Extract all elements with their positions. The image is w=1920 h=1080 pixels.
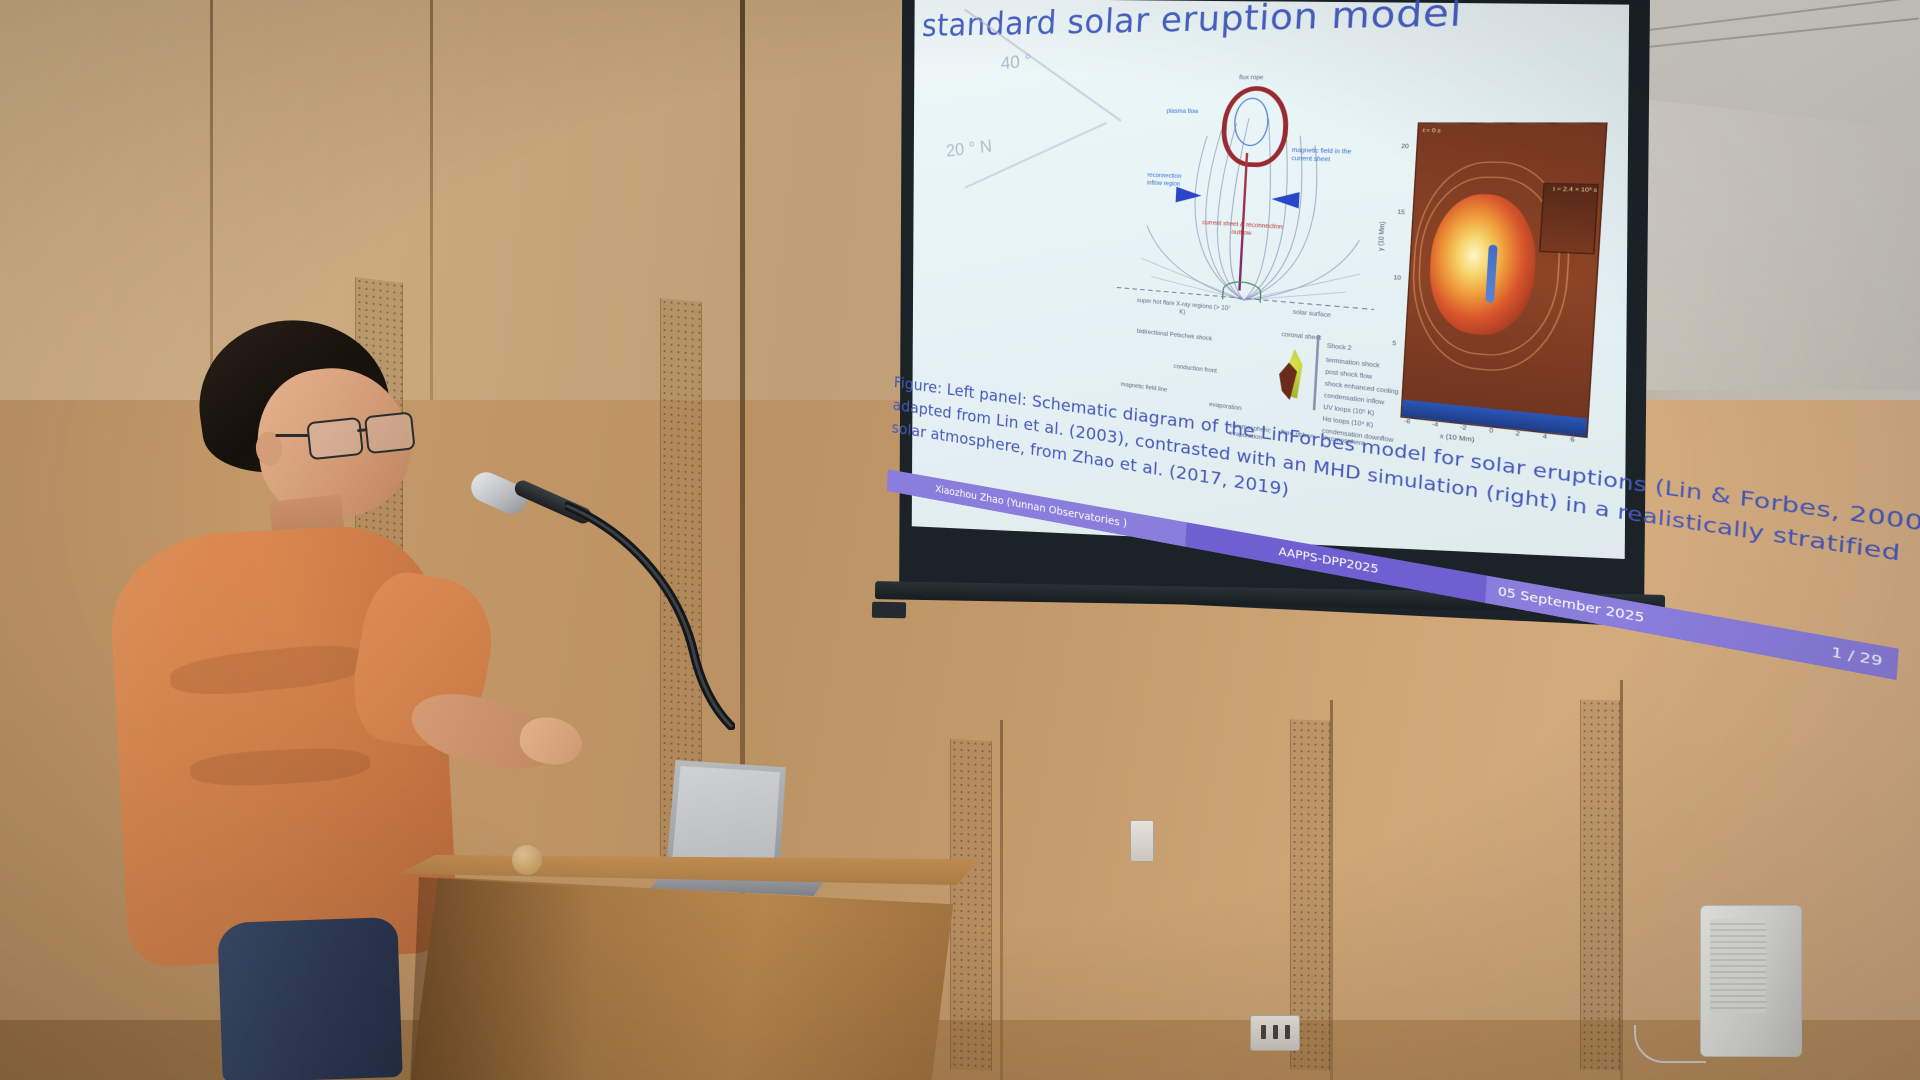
wall-seam [1000, 720, 1003, 1080]
mhd-xtick: -6 [1404, 418, 1411, 426]
air-purifier-vent [1710, 919, 1766, 1013]
mhd-xtick: 6 [1570, 436, 1575, 444]
glasses-lens-right [364, 411, 416, 454]
mhd-ytick: 20 [1401, 143, 1409, 150]
schematic-label: flux rope [1239, 75, 1264, 83]
screen-pull-handle[interactable] [872, 602, 906, 619]
wall-power-outlet [1250, 1015, 1300, 1051]
glasses-temple [276, 434, 310, 437]
mhd-xtick: -2 [1460, 424, 1467, 432]
microphone-gooseneck [565, 500, 735, 730]
mhd-time-stamp: t = 0 s [1423, 127, 1441, 134]
mhd-simulation-panel: t = 0 s t = 2.4 × 10³ s 20 15 10 5 y (10… [1400, 122, 1607, 438]
air-purifier-unit [1700, 905, 1800, 1065]
caption-line: adapted from Lin et al. (2003), contrast… [892, 394, 1891, 570]
mhd-x-axis-label: x (10 Mm) [1439, 433, 1474, 444]
schematic-label: reconnection inflow region [1147, 172, 1189, 188]
schematic-label: magnetic field in the current sheet [1291, 147, 1362, 164]
mhd-ytick: 15 [1397, 209, 1405, 217]
schematic-label: post shock flow [1325, 369, 1372, 382]
mhd-photosphere-base [1402, 399, 1588, 436]
schematic-label: magnetic field line [1120, 381, 1167, 394]
inflow-arrow-right [1271, 191, 1300, 209]
footer-page-number: 1 / 29 [1831, 645, 1883, 670]
mhd-ytick: 10 [1393, 274, 1401, 282]
mhd-xtick: 0 [1489, 427, 1494, 435]
glasses-lens-left [306, 417, 364, 460]
wall-seam [1330, 700, 1333, 1080]
prominence-eruption-icon [1275, 345, 1316, 403]
footer-author: Xiaozhou Zhao (Yunnan Observatories ) [887, 475, 1186, 541]
linforbes-schematic: plasma flow flux rope reconnection inflo… [1104, 79, 1401, 406]
schematic-label: evaporation [1209, 401, 1242, 413]
presenter-trousers [217, 917, 402, 1080]
podium-shadow [410, 877, 590, 1080]
schematic-label: bidirectional Petschek shock [1137, 328, 1213, 343]
gooseneck-microphone[interactable] [470, 470, 750, 760]
mhd-xtick: 4 [1542, 433, 1547, 441]
mhd-y-axis-label: y (10 Mm) [1378, 221, 1388, 251]
mhd-xtick: -4 [1432, 421, 1439, 429]
wooden-podium [400, 855, 980, 1080]
inflow-arrow-left [1176, 187, 1202, 204]
footer-date: 05 September 2025 [1497, 585, 1644, 626]
mhd-xtick: 2 [1515, 430, 1520, 438]
wall-knob [512, 845, 542, 875]
mhd-inset-time-stamp: t = 2.4 × 10³ s [1553, 186, 1597, 195]
wall-control-plate[interactable] [1130, 820, 1154, 862]
annotation-20-degrees-north: 20 ° N [945, 136, 992, 162]
mhd-ytick: 5 [1392, 340, 1396, 348]
schematic-label: conduction front [1173, 363, 1217, 375]
schematic-label: plasma flow [1166, 108, 1198, 116]
photo-scene: standard solar eruption model 40 ° 20 ° … [0, 0, 1920, 1080]
footer-conference: AAPPS-DPP2025 [1186, 528, 1487, 596]
schematic-label: termination shock [1326, 357, 1380, 370]
projection-screen: standard solar eruption model 40 ° 20 ° … [890, 0, 1650, 650]
schematic-label: coronal sheet [1281, 331, 1321, 343]
schematic-label: Shock 2 [1327, 343, 1352, 353]
